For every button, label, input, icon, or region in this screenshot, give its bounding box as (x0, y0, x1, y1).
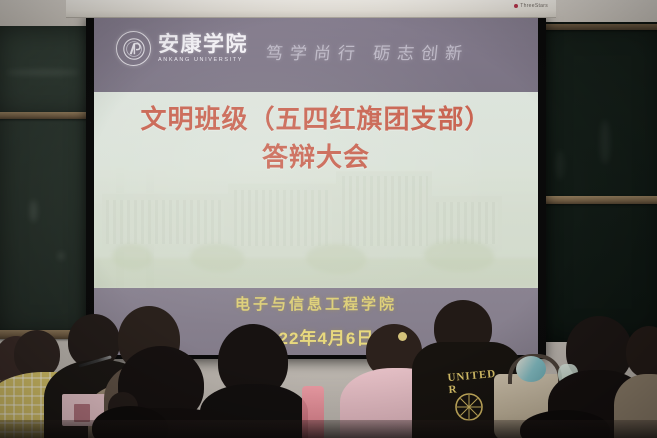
projector-screen-valance: ThreeStars (66, 0, 556, 18)
campus-windows (436, 202, 498, 244)
hair-clip (398, 332, 407, 341)
campus-windows (234, 190, 332, 246)
chalkboard-right (540, 22, 657, 342)
campus-windows (106, 200, 224, 244)
chalk-smudge (556, 150, 564, 180)
chalk-rail-right-upper (540, 24, 657, 30)
bag-pouch (516, 356, 546, 382)
slide-title-line1: 文明班级（五四红旗团支部） (94, 105, 538, 135)
front-row-shadow (0, 420, 657, 438)
valance-brand-label: ThreeStars (520, 3, 548, 9)
chalk-rail-left-upper (0, 112, 96, 119)
campus-tree (112, 244, 152, 270)
chalk-smudge (6, 70, 80, 75)
university-name-en: ANKANG UNIVERSITY (158, 58, 248, 64)
slide-title-line2: 答辩大会 (94, 141, 538, 175)
tshirt-print-emblem-icon (452, 390, 486, 424)
head (14, 330, 60, 378)
chalk-smudge (58, 252, 64, 260)
campus-building-photo (94, 166, 538, 288)
university-logo-text: 安康学院 ANKANG UNIVERSITY (158, 34, 248, 64)
slide-title-group: 文明班级（五四红旗团支部） 答辩大会 (94, 105, 538, 175)
brand-dot-icon (514, 4, 518, 8)
campus-windows (342, 176, 428, 246)
chalk-rail-right-lower (540, 196, 657, 204)
university-logo: 安康学院 ANKANG UNIVERSITY (116, 31, 248, 66)
chalk-smudge (30, 200, 37, 222)
chalk-smudge (600, 120, 610, 164)
university-motto: 笃学尚行 砺志创新 (265, 39, 471, 64)
university-name-cn: 安康学院 (158, 34, 248, 55)
campus-tree (306, 244, 366, 274)
ankang-university-emblem-icon (116, 31, 151, 66)
audience-silhouettes: UNITED R (0, 308, 657, 438)
campus-tree (190, 244, 244, 272)
valance-brand-logo: ThreeStars (514, 3, 548, 9)
classroom-photo: ThreeStars (0, 0, 657, 438)
head (626, 326, 657, 378)
